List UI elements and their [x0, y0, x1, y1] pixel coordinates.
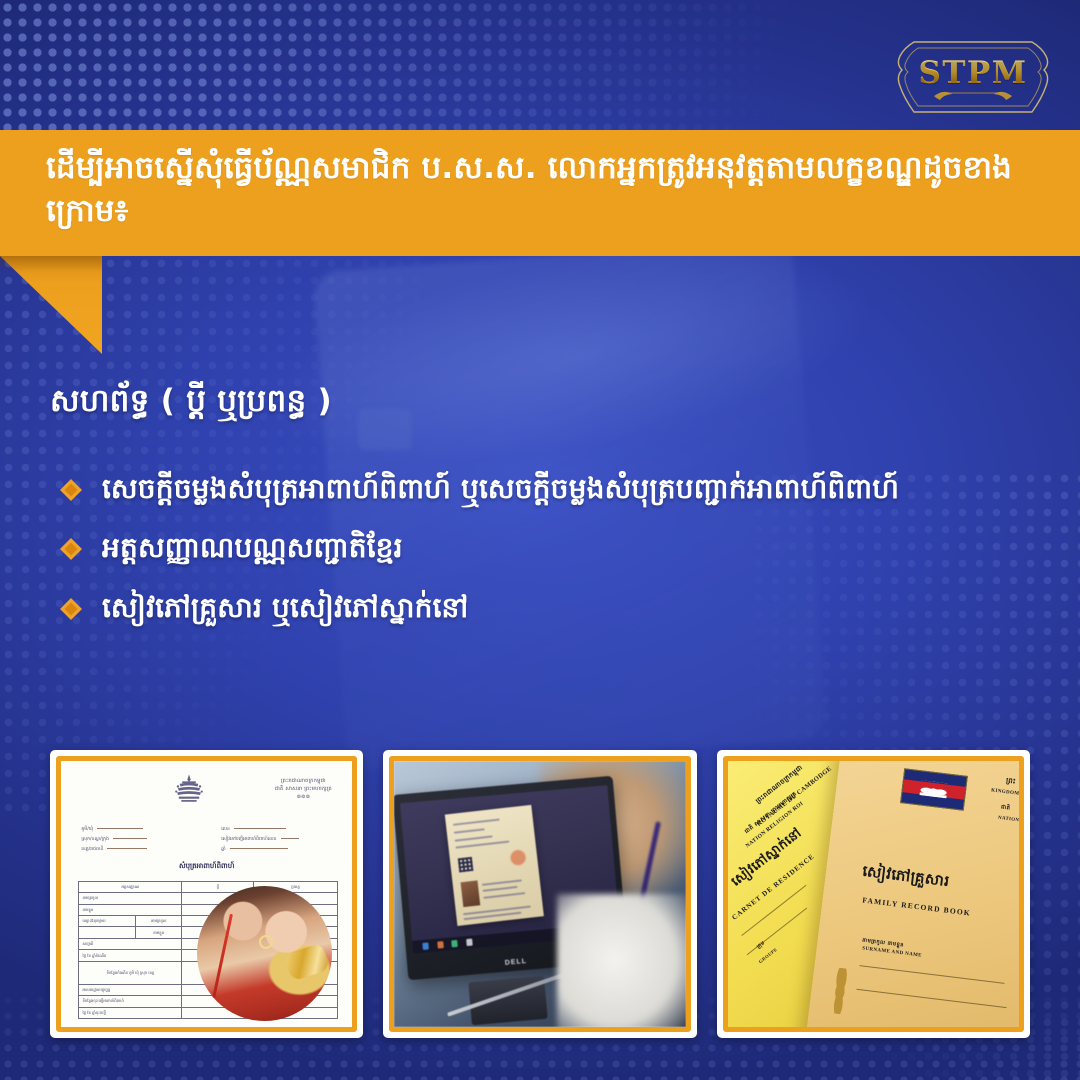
certificate-right-fields: លេខ សៀវភៅបញ្ជីអាពាហ៍ពិពាហ៍លេខ ឆ្នាំ	[221, 825, 298, 856]
gold-diamond-bullet-icon	[58, 536, 84, 562]
list-item-label: អត្តសញ្ញាណបណ្ណសញ្ជាតិខ្មែរ	[102, 527, 403, 568]
scanned-id-document	[445, 805, 544, 926]
list-item: សេចក្តីចម្លងសំបុត្រអាពាហ៍ពិពាហ៍ ឬសេចក្តី…	[58, 468, 958, 509]
wedding-ring-icon	[259, 935, 273, 949]
divider-glyph: ៙៙៙	[275, 793, 332, 801]
header-banner-text: ដើម្បីអាចស្នើសុំធ្វើប័ណ្ណសមាជិក ប.ស.ស. ល…	[46, 147, 1046, 233]
table-header-row: អត្តសញ្ញាណ ប្តី ប្រពន្ធ	[79, 882, 336, 893]
row-label: ឈ្មោះឪពុកម្តាយ	[79, 916, 136, 926]
poster-canvas: STPM ដើម្បីអាចស្នើសុំធ្វើប័ណ្ណសមាជិក ប.ស…	[0, 0, 1080, 1080]
background-watermark-chip	[358, 408, 412, 450]
field-label: សៀវភៅបញ្ជីអាពាហ៍ពិពាហ៍លេខ	[221, 837, 276, 842]
wedding-ring-photo-inset	[197, 886, 332, 1021]
list-item: អត្តសញ្ញាណបណ្ណសញ្ជាតិខ្មែរ	[58, 527, 958, 568]
requirements-list: សេចក្តីចម្លងសំបុត្រអាពាហ៍ពិពាហ៍ ឬសេចក្តី…	[58, 468, 958, 646]
motto-khmer: ជាតិ សាសនា ព្រះមហាក្សត្រ	[275, 785, 332, 793]
brand-logo-text: STPM	[918, 55, 1027, 91]
field-label: លេខ	[221, 827, 230, 832]
family-record-book-photo: ព្រះរាជាណាចក្រកម្ពុជា ROYAUME DU CAMBODG…	[717, 750, 1030, 1038]
row-label: សញ្ជាតិ	[79, 939, 182, 949]
list-item-label: សេចក្តីចម្លងសំបុត្រអាពាហ៍ពិពាហ៍ ឬសេចក្តី…	[102, 468, 899, 509]
photo-border: DELL	[389, 756, 690, 1032]
list-item: សៀវភៅគ្រួសារ ឬសៀវភៅស្នាក់នៅ	[58, 587, 958, 628]
gold-diamond-bullet-icon	[58, 596, 84, 622]
field-label: ខេត្ត/រាជធានី	[81, 847, 103, 852]
row-label: ទីកន្លែងកំណើត ភូមិ ឃុំ ស្រុក ខេត្ត	[79, 962, 182, 984]
official-stamp-icon	[509, 848, 528, 868]
gold-diamond-bullet-icon	[58, 477, 84, 503]
foreground-person	[557, 894, 685, 1027]
certificate-title: សំបុត្រអាពាហ៍ពិពាហ៍	[61, 862, 352, 872]
row-label: ថ្ងៃ ខែ ឆ្នាំចុះបញ្ជី	[79, 1008, 182, 1018]
photo-border: ព្រះរាជាណាចក្រកម្ពុជា ជាតិ សាសនា ព្រះមហា…	[56, 756, 357, 1032]
row-label: នាមខ្លួន	[79, 905, 182, 915]
row-label: នាមត្រកូល	[79, 893, 182, 903]
cambodia-crest-icon	[172, 772, 206, 806]
field-label: ឆ្នាំ	[221, 847, 225, 852]
row-label: អាសយដ្ឋានបច្ចុប្បន្ន	[79, 985, 182, 995]
section-heading: សហព័ទ្ធ ( ប្តី ឬប្រពន្ធ )	[50, 382, 332, 427]
photo-border: ព្រះរាជាណាចក្រកម្ពុជា ROYAUME DU CAMBODG…	[723, 756, 1024, 1032]
marriage-certificate-photo: ព្រះរាជាណាចក្រកម្ពុជា ជាតិ សាសនា ព្រះមហា…	[50, 750, 363, 1038]
cambodia-flag-icon	[901, 768, 969, 810]
photo-strip: ព្រះរាជាណាចក្រកម្ពុជា ជាតិ សាសនា ព្រះមហា…	[50, 750, 1030, 1038]
column-header: អត្តសញ្ញាណ	[79, 882, 182, 892]
khmer-ornament-glyph	[824, 966, 855, 1015]
row-sublabel: នាមត្រកូល	[136, 916, 182, 926]
row-sublabel: នាមខ្លួន	[136, 927, 182, 937]
certificate-left-fields: ភូមិ/ឃុំ ស្រុក/ខណ្ឌ/ក្រុង ខេត្ត/រាជធានី	[81, 825, 147, 856]
marriage-certificate-form: ព្រះរាជាណាចក្រកម្ពុជា ជាតិ សាសនា ព្រះមហា…	[61, 761, 352, 1027]
list-item-label: សៀវភៅគ្រួសារ ឬសៀវភៅស្នាក់នៅ	[102, 587, 468, 628]
books-scene: ព្រះរាជាណាចក្រកម្ពុជា ROYAUME DU CAMBODG…	[728, 761, 1019, 1027]
qr-code-icon	[458, 856, 474, 872]
id-portrait-photo	[461, 880, 481, 906]
kingdom-khmer: ព្រះរាជាណាចក្រកម្ពុជា	[275, 777, 332, 785]
brand-logo: STPM	[894, 34, 1052, 120]
field-label: ស្រុក/ខណ្ឌ/ក្រុង	[81, 837, 108, 842]
monitor-brand-label: DELL	[505, 957, 528, 966]
row-label: ទីកន្លែងចុះបញ្ជីអាពាហ៍ពិពាហ៍	[79, 996, 182, 1006]
banner-corner-tab	[0, 256, 102, 354]
header-banner: ដើម្បីអាចស្នើសុំធ្វើប័ណ្ណសមាជិក ប.ស.ស. ល…	[0, 130, 1080, 256]
family-motto-partial: ជាតិ	[1000, 803, 1010, 812]
red-thread	[212, 914, 233, 999]
family-kingdom-partial: ព្រះ	[1005, 776, 1016, 787]
row-label: ថ្ងៃ ខែ ឆ្នាំកំណើត	[79, 950, 182, 960]
certificate-kingdom-header: ព្រះរាជាណាចក្រកម្ពុជា ជាតិ សាសនា ព្រះមហា…	[275, 777, 332, 801]
gold-bangle	[283, 943, 330, 982]
scanning-scene: DELL	[394, 761, 685, 1027]
field-label: ភូមិ/ឃុំ	[81, 827, 93, 832]
id-card-scanning-photo: DELL	[383, 750, 696, 1038]
